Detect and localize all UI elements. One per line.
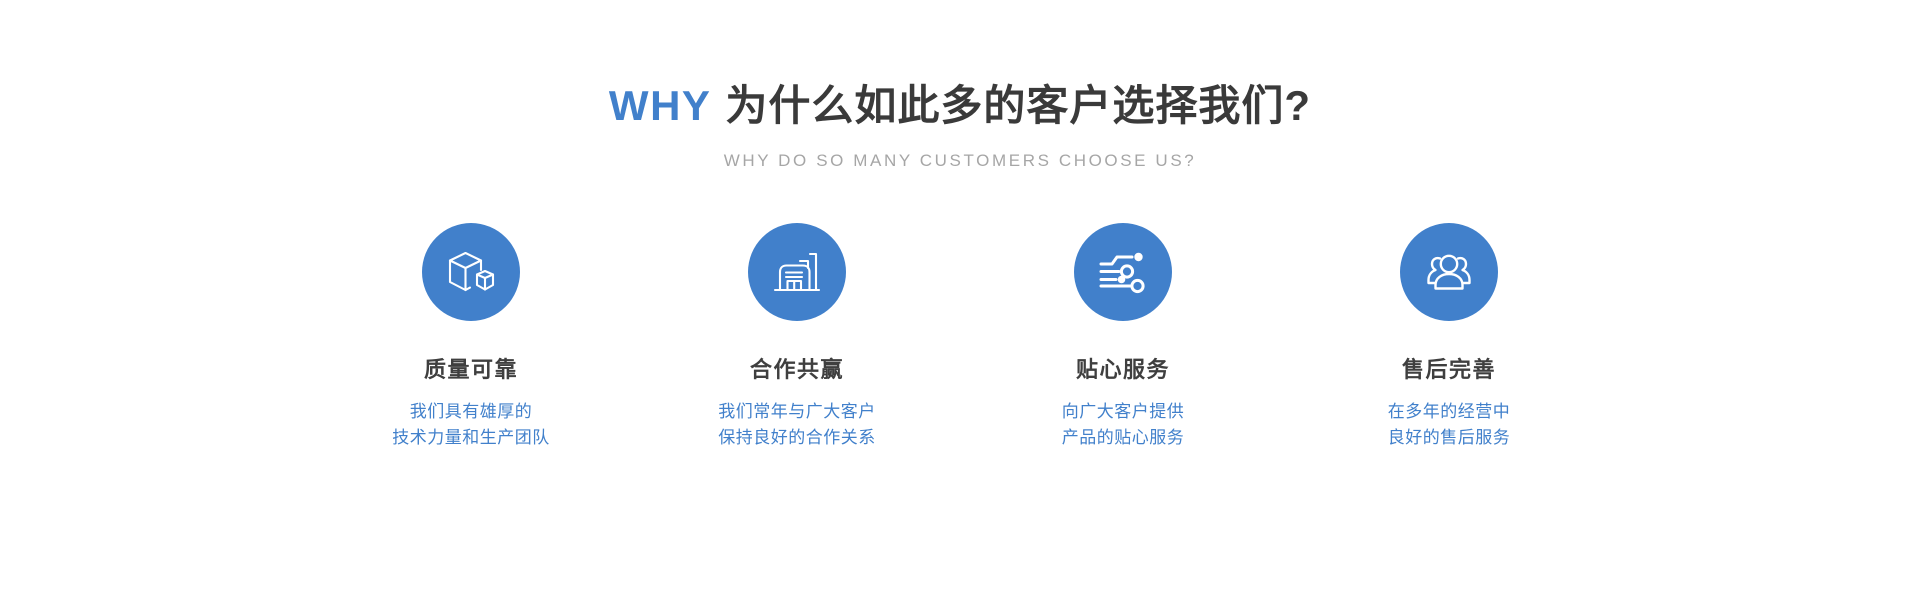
feature-desc-line-1: 我们常年与广大客户 bbox=[718, 399, 876, 425]
feature-description: 我们具有雄厚的 技术力量和生产团队 bbox=[392, 399, 550, 450]
why-choose-us-section: WHY为什么如此多的客户选择我们? WHY DO SO MANY CUSTOME… bbox=[0, 0, 1920, 615]
feature-icon-circle bbox=[748, 223, 846, 321]
feature-desc-line-1: 在多年的经营中 bbox=[1388, 399, 1511, 425]
feature-title: 合作共赢 bbox=[750, 357, 844, 383]
feature-item-cooperation[interactable]: 合作共赢 我们常年与广大客户 保持良好的合作关系 bbox=[634, 223, 960, 450]
package-box-icon bbox=[443, 244, 499, 300]
feature-icon-circle bbox=[1074, 223, 1172, 321]
feature-description: 在多年的经营中 良好的售后服务 bbox=[1388, 399, 1511, 450]
feature-title: 售后完善 bbox=[1402, 357, 1496, 383]
feature-list: 质量可靠 我们具有雄厚的 技术力量和生产团队 bbox=[260, 223, 1660, 450]
page-subtitle: WHY DO SO MANY CUSTOMERS CHOOSE US? bbox=[0, 151, 1920, 171]
feature-description: 向广大客户提供 产品的贴心服务 bbox=[1062, 399, 1185, 450]
users-group-icon bbox=[1421, 244, 1477, 300]
feature-desc-line-2: 技术力量和生产团队 bbox=[392, 425, 550, 451]
feature-icon-circle bbox=[1400, 223, 1498, 321]
circuit-nodes-icon bbox=[1095, 244, 1151, 300]
feature-desc-line-1: 我们具有雄厚的 bbox=[392, 399, 550, 425]
feature-desc-line-1: 向广大客户提供 bbox=[1062, 399, 1185, 425]
feature-desc-line-2: 保持良好的合作关系 bbox=[718, 425, 876, 451]
title-main-text: 为什么如此多的客户选择我们? bbox=[725, 82, 1311, 129]
feature-item-service[interactable]: 贴心服务 向广大客户提供 产品的贴心服务 bbox=[960, 223, 1286, 450]
feature-desc-line-2: 产品的贴心服务 bbox=[1062, 425, 1185, 451]
feature-desc-line-2: 良好的售后服务 bbox=[1388, 425, 1511, 451]
page-title: WHY为什么如此多的客户选择我们? bbox=[0, 82, 1920, 129]
feature-item-quality[interactable]: 质量可靠 我们具有雄厚的 技术力量和生产团队 bbox=[308, 223, 634, 450]
feature-icon-circle bbox=[422, 223, 520, 321]
feature-title: 贴心服务 bbox=[1076, 357, 1170, 383]
section-heading: WHY为什么如此多的客户选择我们? WHY DO SO MANY CUSTOME… bbox=[0, 82, 1920, 171]
feature-item-aftersales[interactable]: 售后完善 在多年的经营中 良好的售后服务 bbox=[1286, 223, 1612, 450]
feature-description: 我们常年与广大客户 保持良好的合作关系 bbox=[718, 399, 876, 450]
title-highlight-why: WHY bbox=[609, 82, 712, 129]
factory-icon bbox=[769, 244, 825, 300]
feature-title: 质量可靠 bbox=[424, 357, 518, 383]
